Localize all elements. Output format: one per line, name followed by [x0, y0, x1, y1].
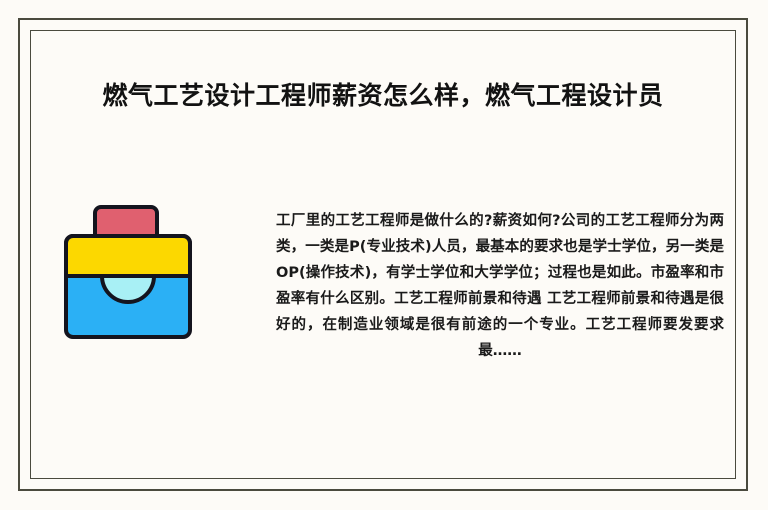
page-root: 燃气工艺设计工程师薪资怎么样，燃气工程设计员 工厂里的工艺工程师是做什么的?薪资… [0, 0, 768, 510]
page-title: 燃气工艺设计工程师薪资怎么样，燃气工程设计员 [30, 80, 736, 112]
article-paragraph: 工厂里的工艺工程师是做什么的?薪资如何?公司的工艺工程师分为两类，一类是P(专业… [276, 208, 724, 364]
toolbox-lid-icon [66, 236, 190, 276]
toolbox-briefcase-illustration [62, 203, 194, 341]
